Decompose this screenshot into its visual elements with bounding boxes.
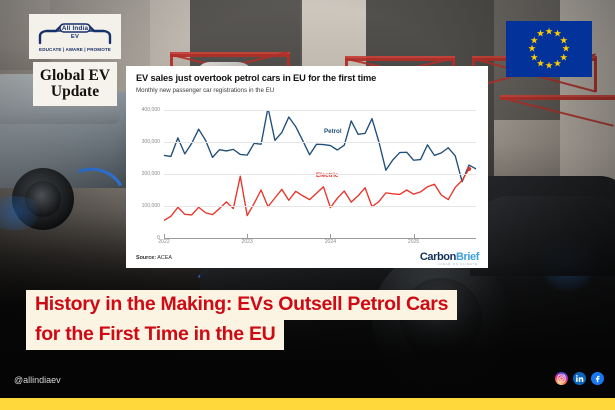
y-axis-tick-label: 300,000 [142,139,160,145]
x-axis-tick-label: 2024 [325,239,336,245]
social-media-poster: All India EV EDUCATE | AWARE | PROMOTE G… [0,0,615,410]
chart-subtitle: Monthly new passenger car registrations … [136,87,478,94]
logo-subtitle: EV [71,34,79,40]
chart-plot-area: Petrol Electric 0100,000200,000300,00040… [164,110,476,238]
badge-line-1: Global EV [40,68,110,84]
chart-source: Source: ACEA [136,255,172,261]
y-axis-tick-label: 400,000 [142,107,160,113]
accent-bar [0,398,615,410]
chart-gridline [164,142,476,143]
social-handle: @allindiaev [14,375,61,385]
watermark-part-1: Carbon [420,251,456,263]
logo-tagline: EDUCATE | AWARE | PROMOTE [39,47,111,52]
chart-gridline [164,110,476,111]
logo-title: All India [62,25,88,32]
car-outline-icon: All India EV [36,22,114,46]
eu-star-icon: ★ [545,27,554,37]
series-label-petrol: Petrol [324,128,342,135]
social-icons [555,372,604,385]
chart-x-axis: 2022202320242025 [164,238,476,250]
global-ev-update-badge: Global EV Update [33,62,117,106]
watermark-part-2: Brief [456,251,479,263]
facebook-icon[interactable] [591,372,604,385]
chart-line-petrol [164,110,476,182]
x-axis-tick [330,234,331,238]
chart-gridline [164,206,476,207]
watermark-tagline: CLEAR ON CLIMATE [438,263,478,266]
eu-star-icon: ★ [553,59,562,69]
chart-highlight-point [467,167,471,171]
x-axis-tick [414,234,415,238]
headline-line-1: History in the Making: EVs Outsell Petro… [26,290,457,320]
instagram-icon[interactable] [555,372,568,385]
carbonbrief-watermark: CarbonBrief [420,251,479,263]
linkedin-icon[interactable] [573,372,586,385]
chart-gridline [164,174,476,175]
x-axis-tick-label: 2025 [408,239,419,245]
x-axis-tick-label: 2022 [158,239,169,245]
source-label: Source: [136,255,156,261]
eu-star-icon: ★ [545,61,554,71]
chart-card: EV sales just overtook petrol cars in EU… [126,66,488,268]
badge-line-2: Update [51,84,99,100]
x-axis-tick [164,234,165,238]
eu-flag-icon: ★★★★★★★★★★★★ [506,21,592,77]
eu-star-icon: ★ [536,30,545,40]
headline-line-2: for the First Time in the EU [26,320,284,350]
all-india-ev-logo: All India EV EDUCATE | AWARE | PROMOTE [29,14,121,59]
y-axis-tick-label: 100,000 [142,203,160,209]
y-axis-tick-label: 200,000 [142,171,160,177]
x-axis-tick [247,234,248,238]
source-value: ACEA [157,255,172,261]
x-axis-tick-label: 2023 [242,239,253,245]
chart-title: EV sales just overtook petrol cars in EU… [136,73,478,84]
